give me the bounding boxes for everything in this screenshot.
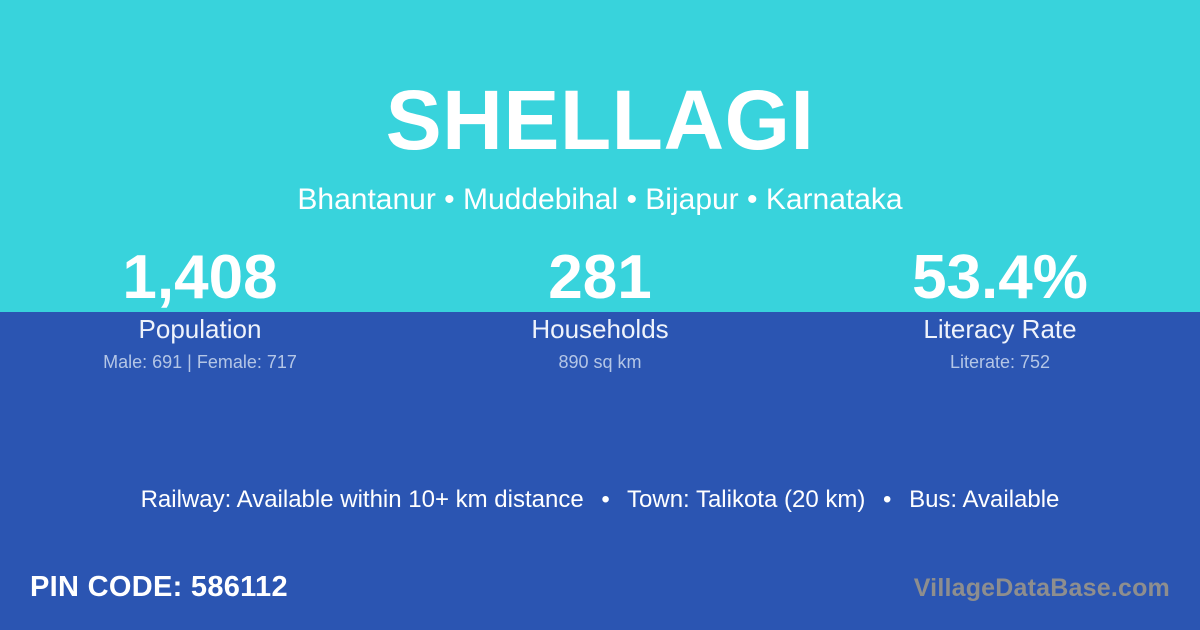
stat-value-population: 1,408: [0, 244, 400, 312]
stat-sub-households: 890 sq km: [400, 351, 800, 373]
stat-literacy-rate: 53.4% Literacy Rate Literate: 752: [800, 244, 1200, 373]
facility-town: Town: Talikota (20 km): [627, 486, 865, 513]
pin-code: PIN CODE: 586112: [30, 570, 288, 604]
stat-label-literacy-rate: Literacy Rate: [800, 314, 1200, 344]
village-info-card: SHELLAGI Bhantanur • Muddebihal • Bijapu…: [0, 0, 1200, 630]
facilities-line: Railway: Available within 10+ km distanc…: [0, 484, 1200, 516]
stat-value-literacy-rate: 53.4%: [800, 244, 1200, 312]
facility-railway: Railway: Available within 10+ km distanc…: [141, 486, 584, 513]
stat-label-population: Population: [0, 314, 400, 344]
stats-row: 1,408 Population Male: 691 | Female: 717…: [0, 244, 1200, 373]
site-brand: VillageDataBase.com: [914, 572, 1170, 604]
stat-population: 1,408 Population Male: 691 | Female: 717: [0, 244, 400, 373]
stat-households: 281 Households 890 sq km: [400, 244, 800, 373]
bullet-separator-icon: •: [872, 486, 902, 513]
footer-bar: PIN CODE: 586112 VillageDataBase.com: [0, 556, 1200, 630]
breadcrumb: Bhantanur • Muddebihal • Bijapur • Karna…: [0, 182, 1200, 218]
stat-sub-literacy-rate: Literate: 752: [800, 351, 1200, 373]
page-title: SHELLAGI: [0, 78, 1200, 162]
stat-label-households: Households: [400, 314, 800, 344]
stat-value-households: 281: [400, 244, 800, 312]
stat-sub-population: Male: 691 | Female: 717: [0, 351, 400, 373]
facility-bus: Bus: Available: [909, 486, 1059, 513]
bullet-separator-icon: •: [590, 486, 620, 513]
